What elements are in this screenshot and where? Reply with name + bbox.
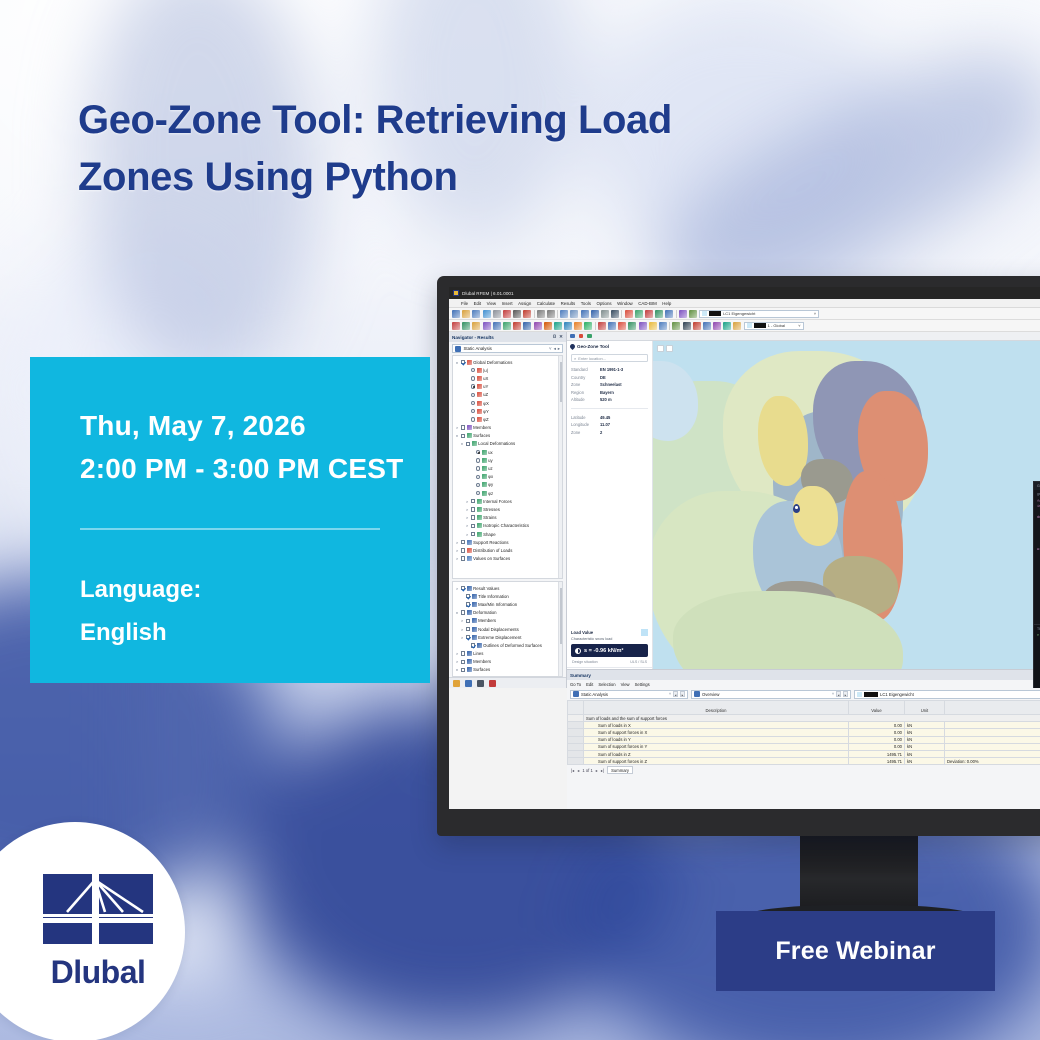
- navigator-title: Navigator - Results: [452, 335, 494, 340]
- tree-checkbox[interactable]: [461, 651, 465, 655]
- table-cell-description: Sum of support forces in Z: [584, 758, 849, 765]
- geo-field-value: Bayern: [600, 390, 614, 395]
- summary-selectors[interactable]: Static Analysis ˅ ◂▸ Overview ˅ ◂▸ LC1 E…: [567, 688, 1040, 700]
- navigator-pin-icon[interactable]: ⌷: [553, 334, 556, 340]
- toolbar-button-26[interactable]: [679, 310, 687, 318]
- tree-item-icon: [472, 602, 477, 607]
- navigator-tabs[interactable]: [449, 677, 566, 688]
- monitor: Dlubal RFEM | 6.01.0001 File Edit View I…: [437, 276, 1040, 836]
- tree-item[interactable]: Outlines of Deformed Surfaces: [453, 641, 562, 649]
- tree-item[interactable]: φy: [453, 481, 562, 489]
- toolbar-separator: [669, 322, 670, 330]
- tree-item-label: uy: [488, 458, 493, 463]
- tree-checkbox[interactable]: [471, 643, 475, 647]
- geo-field-key: Altitude: [571, 397, 597, 402]
- tree-item-icon: [477, 417, 482, 422]
- code-editor-tabs[interactable]: geo_zone_tool.py: [1034, 490, 1040, 497]
- tree-radio[interactable]: [471, 368, 475, 372]
- toolbar-button-17[interactable]: [601, 310, 609, 318]
- chevron-right-icon[interactable]: >: [455, 540, 459, 545]
- tree-item[interactable]: vDeformation: [453, 609, 562, 617]
- load-case-color-swatch-dark: [754, 323, 766, 328]
- tree-item-icon: [477, 532, 482, 537]
- tree-item-label: Trajectories: [478, 676, 500, 677]
- tree-radio[interactable]: [471, 401, 475, 405]
- tree-checkbox[interactable]: [461, 548, 465, 552]
- menu-bar[interactable]: File Edit View Insert Assign Calculate R…: [449, 299, 1040, 308]
- table-row[interactable]: Sum of loads in Y0.00kN: [568, 736, 1040, 743]
- tree-item[interactable]: >Members: [453, 424, 562, 432]
- summary-footer[interactable]: |◂ ◂ 1 of 1 ▸ ▸| Summary SNAP: [567, 765, 1040, 775]
- summary-panel: Summary Go To Edit Selection View Settin…: [567, 669, 1040, 809]
- geo-field-value: Schneelast: [600, 382, 622, 387]
- summary-menu-selection[interactable]: Selection: [598, 682, 615, 687]
- tree-item[interactable]: >Members: [453, 617, 562, 625]
- geo-result-label: Load Value: [571, 630, 593, 635]
- toolbar-button-17[interactable]: [608, 322, 616, 330]
- tree-checkbox[interactable]: [466, 635, 470, 639]
- prev-page-icon[interactable]: ◂: [577, 768, 579, 773]
- navigator-scrollbar-2[interactable]: [558, 582, 562, 676]
- toolbar-button-30[interactable]: [733, 322, 741, 330]
- tree-checkbox[interactable]: [471, 532, 475, 536]
- tree-item-label: Distribution of Loads: [473, 548, 512, 553]
- toolbar-button-27[interactable]: [703, 322, 711, 330]
- next-icon[interactable]: ▸: [558, 346, 560, 352]
- geo-limit-states: ULS / SLS: [630, 660, 647, 664]
- geo-field-row: ZoneSchneelast: [571, 382, 648, 387]
- table-col-unit: Unit: [905, 701, 945, 715]
- geo-search-placeholder: Enter location...: [578, 356, 606, 361]
- tab-results-icon[interactable]: [489, 680, 496, 687]
- summary-tab[interactable]: Summary: [607, 766, 633, 774]
- summary-menu-view[interactable]: View: [621, 682, 630, 687]
- tree-item-label: Local Deformations: [478, 441, 515, 446]
- tree-item-icon: [467, 659, 472, 664]
- navigator-analysis-select[interactable]: Static Analysis ˅◂▸: [452, 344, 563, 353]
- toolbar-button-13[interactable]: [560, 310, 568, 318]
- tree-item[interactable]: >Trajectories: [453, 674, 562, 677]
- tree-item[interactable]: φZ: [453, 415, 562, 423]
- next-icon[interactable]: ▸: [680, 691, 685, 697]
- toolbar-button-16[interactable]: [591, 310, 599, 318]
- menu-item-options[interactable]: Options: [596, 301, 611, 306]
- map-pin-icon: [569, 343, 576, 350]
- toolbar-button-22[interactable]: [645, 310, 653, 318]
- menu-item-file[interactable]: File: [461, 301, 468, 306]
- toolbar-button-20[interactable]: [639, 322, 647, 330]
- menu-item-cad-bim[interactable]: CAD-BIM: [638, 301, 657, 306]
- tree-item-label: Global Deformations: [473, 360, 512, 365]
- app-title-bar: Dlubal RFEM | 6.01.0001: [449, 287, 1040, 299]
- chevron-right-icon[interactable]: >: [455, 556, 459, 561]
- navigator-close-icon[interactable]: ✕: [559, 334, 563, 340]
- tree-item[interactable]: |u|: [453, 366, 562, 374]
- menu-item-assign[interactable]: Assign: [518, 301, 531, 306]
- chevron-right-icon[interactable]: >: [455, 586, 459, 591]
- toolbar-button-8[interactable]: [523, 310, 531, 318]
- tree-item[interactable]: Title Information: [453, 592, 562, 600]
- tree-item[interactable]: uz: [453, 464, 562, 472]
- table-row[interactable]: Sum of support forces in Z1495.71kNDevia…: [568, 758, 1040, 765]
- geo-result-header: Load Value: [567, 629, 652, 636]
- chevron-right-icon[interactable]: >: [460, 627, 464, 632]
- toolbar-button-13[interactable]: [574, 322, 582, 330]
- headline-line-1: Geo-Zone Tool: Retrieving Load: [78, 92, 878, 149]
- table-cell-unit: kN: [905, 750, 945, 757]
- zoom-out-icon[interactable]: [666, 345, 673, 352]
- chevron-down-icon[interactable]: v: [460, 441, 464, 446]
- menu-item-edit[interactable]: Edit: [474, 301, 482, 306]
- tree-item[interactable]: φY: [453, 407, 562, 415]
- chevron-down-icon[interactable]: v: [455, 667, 459, 672]
- summary-view-select[interactable]: Overview ˅ ◂▸: [691, 690, 851, 699]
- toolbar-button-15[interactable]: [581, 310, 589, 318]
- menu-item-help[interactable]: Help: [662, 301, 671, 306]
- toolbar-button-24[interactable]: [672, 322, 680, 330]
- tree-item[interactable]: vGlobal Deformations: [453, 358, 562, 366]
- geo-tool-title: Geo-Zone Tool: [577, 344, 609, 349]
- geo-field-value: 11.07: [600, 422, 610, 427]
- tree-checkbox[interactable]: [471, 515, 475, 519]
- toolbar-button-22[interactable]: [659, 322, 667, 330]
- toolbar-button-3[interactable]: [472, 322, 480, 330]
- toolbar-button-6[interactable]: [503, 322, 511, 330]
- toolbar-button-8[interactable]: [523, 322, 531, 330]
- tree-item[interactable]: vSurfaces: [453, 666, 562, 674]
- next-icon[interactable]: ▸: [843, 691, 848, 697]
- toolbar-button-29[interactable]: [723, 322, 731, 330]
- chevron-right-icon[interactable]: >: [455, 548, 459, 553]
- tree-item[interactable]: >Members: [453, 658, 562, 666]
- tree-radio[interactable]: [471, 409, 475, 413]
- tree-item-label: φY: [483, 409, 489, 414]
- tree-item[interactable]: vLocal Deformations: [453, 440, 562, 448]
- toolbar-button-21[interactable]: [649, 322, 657, 330]
- table-cell-note: Deviation: 0.00%: [945, 758, 1040, 765]
- tree-item[interactable]: >Shape: [453, 530, 562, 538]
- tree-checkbox[interactable]: [466, 619, 470, 623]
- code-editor-content[interactable]: from dlubal.api import rfem import reque…: [1034, 497, 1040, 570]
- summary-menu-go-to[interactable]: Go To: [570, 682, 581, 687]
- free-webinar-button[interactable]: Free Webinar: [716, 911, 995, 991]
- menu-item-tools[interactable]: Tools: [581, 301, 591, 306]
- tree-item-icon: [467, 667, 472, 672]
- table-row[interactable]: Sum of support forces in X0.00kN: [568, 729, 1040, 736]
- geo-zone-map[interactable]: Geo-Zone · geo_zone_tool.py — Visual Stu…: [653, 341, 1040, 688]
- tab-display-icon[interactable]: [477, 680, 484, 687]
- tree-radio[interactable]: [476, 491, 480, 495]
- tree-radio[interactable]: [476, 458, 480, 462]
- toolbar-button-9[interactable]: [534, 322, 542, 330]
- map-zoom-controls[interactable]: [657, 345, 673, 352]
- geo-search-input[interactable]: ⌕ Enter location...: [571, 354, 648, 362]
- page-title: Geo-Zone Tool: Retrieving Load Zones Usi…: [78, 92, 878, 206]
- geo-field-key: Zone: [571, 382, 597, 387]
- toolbar-button-1[interactable]: [452, 322, 460, 330]
- summary-table[interactable]: Description Value Unit Sum of loads and …: [567, 700, 1040, 765]
- table-cell-value: 0.00: [849, 736, 905, 743]
- last-page-icon[interactable]: ▸|: [601, 768, 604, 773]
- toolbar-button-12[interactable]: [564, 322, 572, 330]
- selected-location-pin: [793, 504, 800, 513]
- chevron-down-icon[interactable]: ˅: [814, 311, 816, 316]
- chevron-right-icon[interactable]: >: [455, 659, 459, 664]
- toolbar-button-10[interactable]: [537, 310, 545, 318]
- tree-item-label: uY: [483, 384, 488, 389]
- toolbar-button-11[interactable]: [547, 310, 555, 318]
- geo-field-row: Longitude11.07: [571, 422, 648, 427]
- chevron-right-icon[interactable]: >: [465, 507, 469, 512]
- toolbar-button-14[interactable]: [584, 322, 592, 330]
- tree-item-label: uz: [488, 466, 493, 471]
- terminal-header: TERMINAL: [1034, 625, 1040, 632]
- toolbar-button-5[interactable]: [493, 322, 501, 330]
- toolbar-secondary[interactable]: 1 - Global˅: [449, 320, 1040, 332]
- geo-field-value: EN 1991-1-3: [600, 367, 623, 372]
- tree-item-icon: [477, 523, 482, 528]
- tree-item[interactable]: vSurfaces: [453, 432, 562, 440]
- tree-item-label: Members: [473, 425, 491, 430]
- toolbar-button-14[interactable]: [570, 310, 578, 318]
- tree-item-label: φy: [488, 482, 493, 487]
- first-page-icon[interactable]: |◂: [571, 768, 574, 773]
- navigator-scrollbar[interactable]: [558, 356, 562, 578]
- chevron-down-icon[interactable]: ˅: [549, 346, 552, 352]
- chevron-right-icon[interactable]: >: [465, 499, 469, 504]
- toolbar-button-7[interactable]: [513, 322, 521, 330]
- toolbar-button-2[interactable]: [462, 310, 470, 318]
- tree-radio[interactable]: [471, 417, 475, 421]
- page-indicator: 1 of 1: [582, 768, 592, 773]
- viewport-toolbar[interactable]: [567, 332, 1040, 341]
- tree-radio[interactable]: [471, 393, 475, 397]
- tree-item-icon: [477, 384, 482, 389]
- toolbar-button-20[interactable]: [625, 310, 633, 318]
- tree-checkbox[interactable]: [471, 524, 475, 528]
- code-editor-title-bar: Geo-Zone · geo_zone_tool.py — Visual Stu…: [1034, 482, 1040, 490]
- tree-item[interactable]: Max/Min Information: [453, 600, 562, 608]
- tree-checkbox[interactable]: [461, 668, 465, 672]
- tree-item[interactable]: >Nodal Displacements: [453, 625, 562, 633]
- snow-icon: [575, 648, 581, 654]
- tree-radio[interactable]: [471, 384, 475, 388]
- table-cell-rowhdr: [568, 729, 584, 736]
- tree-item-label: Nodal Displacements: [478, 627, 519, 632]
- tree-item-icon: [477, 409, 482, 414]
- tree-item[interactable]: uy: [453, 456, 562, 464]
- tree-item[interactable]: uY: [453, 383, 562, 391]
- tree-radio[interactable]: [471, 376, 475, 380]
- chevron-right-icon[interactable]: >: [465, 523, 469, 528]
- tree-item[interactable]: >Isotropic Characteristics: [453, 522, 562, 530]
- table-row[interactable]: Sum of support forces in Y0.00kN: [568, 743, 1040, 750]
- tree-checkbox[interactable]: [466, 602, 470, 606]
- tree-radio[interactable]: [476, 466, 480, 470]
- toolbar-button-16[interactable]: [598, 322, 606, 330]
- tree-item[interactable]: >Internal Forces: [453, 497, 562, 505]
- toolbar-button-27[interactable]: [689, 310, 697, 318]
- tree-item[interactable]: >Distribution of Loads: [453, 546, 562, 554]
- table-row[interactable]: Sum of loads in Z1495.71kN: [568, 750, 1040, 757]
- geo-field-value: 49.45: [600, 415, 610, 420]
- monitor-stand-neck: [800, 836, 918, 914]
- tree-item[interactable]: >Strains: [453, 514, 562, 522]
- language-value: English: [80, 611, 430, 654]
- tree-checkbox[interactable]: [461, 610, 465, 614]
- toolbar-button-5[interactable]: [493, 310, 501, 318]
- geo-field-row: RegionBayern: [571, 390, 648, 395]
- geo-field-key: Zone: [571, 430, 597, 435]
- tree-item[interactable]: >Stresses: [453, 505, 562, 513]
- tree-radio[interactable]: [476, 483, 480, 487]
- tree-radio[interactable]: [476, 475, 480, 479]
- tree-checkbox[interactable]: [466, 442, 470, 446]
- tree-checkbox[interactable]: [466, 594, 470, 598]
- tree-checkbox[interactable]: [461, 660, 465, 664]
- chevron-down-icon[interactable]: ˅: [832, 692, 834, 696]
- prev-icon[interactable]: ◂: [673, 691, 678, 697]
- tree-item[interactable]: >Support Reactions: [453, 538, 562, 546]
- load-case-color-swatch: [702, 311, 707, 316]
- chevron-right-icon[interactable]: >: [465, 532, 469, 537]
- tree-checkbox[interactable]: [466, 676, 470, 677]
- tree-checkbox[interactable]: [461, 586, 465, 590]
- brand-wordmark: Dlubal: [51, 954, 146, 991]
- toolbar-button-10[interactable]: [544, 322, 552, 330]
- navigator-tree[interactable]: vGlobal Deformations|u|uXuYuZφXφYφZ>Memb…: [452, 355, 563, 579]
- menu-item-insert[interactable]: Insert: [502, 301, 513, 306]
- tree-item-icon: [477, 401, 482, 406]
- tree-item-label: Lines: [473, 651, 483, 656]
- toolbar-button-24[interactable]: [665, 310, 673, 318]
- toolbar-button-25[interactable]: [683, 322, 691, 330]
- tree-item[interactable]: φX: [453, 399, 562, 407]
- chevron-down-icon[interactable]: ˅: [798, 323, 800, 328]
- terminal-panel: TERMINAL > python geo_zone_tool.py Zone:…: [1034, 624, 1040, 688]
- tree-item[interactable]: ux: [453, 448, 562, 456]
- tree-item[interactable]: φx: [453, 473, 562, 481]
- geo-result-color-swatch: [641, 629, 648, 636]
- tree-checkbox[interactable]: [471, 507, 475, 511]
- summary-menu-bar[interactable]: Go To Edit Selection View Settings: [567, 680, 1040, 688]
- prev-icon[interactable]: ◂: [554, 346, 556, 352]
- zoom-in-icon[interactable]: [657, 345, 664, 352]
- tree-item[interactable]: >Extreme Displacement: [453, 633, 562, 641]
- tree-item[interactable]: φz: [453, 489, 562, 497]
- chevron-right-icon[interactable]: >: [455, 425, 459, 430]
- tree-item[interactable]: >Values on Surfaces: [453, 555, 562, 563]
- toolbar-button-21[interactable]: [635, 310, 643, 318]
- load-case-color-swatch: [747, 323, 752, 328]
- tree-item-label: Surfaces: [473, 433, 490, 438]
- chevron-down-icon[interactable]: v: [455, 610, 459, 615]
- tree-checkbox[interactable]: [461, 434, 465, 438]
- toolbar-button-18[interactable]: [618, 322, 626, 330]
- analysis-icon: [455, 346, 461, 352]
- tree-item-label: φz: [488, 491, 493, 496]
- headline-line-2: Zones Using Python: [78, 149, 878, 206]
- menu-item-results[interactable]: Results: [561, 301, 576, 306]
- tree-checkbox[interactable]: [461, 425, 465, 429]
- next-page-icon[interactable]: ▸: [596, 768, 598, 773]
- chevron-down-icon[interactable]: v: [455, 360, 459, 365]
- toolbar-button-26[interactable]: [693, 322, 701, 330]
- menu-item-window[interactable]: Window: [617, 301, 633, 306]
- chevron-down-icon[interactable]: ˅: [669, 692, 671, 696]
- chevron-right-icon[interactable]: >: [460, 635, 464, 640]
- toolbar-load-case-select[interactable]: LC1 Eigengewicht˅: [699, 310, 819, 318]
- table-group-label: Sum of loads and the sum of support forc…: [584, 715, 1040, 722]
- toolbar-button-19[interactable]: [628, 322, 636, 330]
- toolbar-button-11[interactable]: [554, 322, 562, 330]
- summary-menu-settings[interactable]: Settings: [635, 682, 650, 687]
- prev-icon[interactable]: ◂: [836, 691, 841, 697]
- tree-item[interactable]: >Result Values: [453, 584, 562, 592]
- summary-menu-edit[interactable]: Edit: [586, 682, 593, 687]
- case-color-swatch: [857, 692, 862, 697]
- tree-checkbox[interactable]: [471, 499, 475, 503]
- toolbar-button-3[interactable]: [472, 310, 480, 318]
- tree-item-label: Internal Forces: [483, 499, 512, 504]
- toolbar-button-4[interactable]: [483, 310, 491, 318]
- tree-item[interactable]: >Lines: [453, 650, 562, 658]
- geo-field-row: CountryDE: [571, 375, 648, 380]
- toolbar-button-28[interactable]: [713, 322, 721, 330]
- chevron-right-icon[interactable]: >: [455, 651, 459, 656]
- toolbar-button-18[interactable]: [611, 310, 619, 318]
- toolbar-button-23[interactable]: [655, 310, 663, 318]
- summary-case-select[interactable]: LC1 Eigengewicht ˅: [854, 690, 1040, 699]
- chevron-right-icon[interactable]: >: [460, 676, 464, 677]
- chevron-right-icon[interactable]: >: [460, 618, 464, 623]
- table-cell-note: [945, 722, 1040, 729]
- chevron-right-icon[interactable]: >: [465, 515, 469, 520]
- chevron-down-icon[interactable]: v: [455, 433, 459, 438]
- tree-item-icon: [467, 540, 472, 545]
- toolbar-button-6[interactable]: [503, 310, 511, 318]
- toolbar-button-7[interactable]: [513, 310, 521, 318]
- table-cell-unit: kN: [905, 736, 945, 743]
- table-row[interactable]: Sum of loads in X0.00kN: [568, 722, 1040, 729]
- navigator-tree-display[interactable]: >Result ValuesTitle InformationMax/Min I…: [452, 581, 563, 677]
- menu-item-calculate[interactable]: Calculate: [537, 301, 555, 306]
- tab-model-icon[interactable]: [453, 680, 460, 687]
- table-header-row: Description Value Unit: [568, 701, 1040, 715]
- tree-checkbox[interactable]: [461, 360, 465, 364]
- tab-views-icon[interactable]: [465, 680, 472, 687]
- menu-item-view[interactable]: View: [487, 301, 496, 306]
- tree-item[interactable]: uZ: [453, 391, 562, 399]
- toolbar-button-4[interactable]: [483, 322, 491, 330]
- table-cell-value: 1495.71: [849, 758, 905, 765]
- toolbar-button-2[interactable]: [462, 322, 470, 330]
- toolbar-button-1[interactable]: [452, 310, 460, 318]
- tree-item-label: |u|: [483, 368, 488, 373]
- table-cell-value: 1495.71: [849, 750, 905, 757]
- tree-checkbox[interactable]: [466, 627, 470, 631]
- tree-checkbox[interactable]: [461, 540, 465, 544]
- tree-item-label: Stresses: [483, 507, 500, 512]
- summary-analysis-select[interactable]: Static Analysis ˅ ◂▸: [570, 690, 688, 699]
- navigator-header: Navigator - Results ⌷ ✕: [449, 332, 566, 342]
- tree-radio[interactable]: [476, 450, 480, 454]
- tree-item[interactable]: uX: [453, 374, 562, 382]
- toolbar-load-case-select[interactable]: 1 - Global˅: [744, 322, 804, 330]
- toolbar-primary[interactable]: LC1 Eigengewicht˅: [449, 308, 1040, 320]
- toolbar-load-case-value: LC1 Eigengewicht: [723, 311, 755, 316]
- tree-checkbox[interactable]: [461, 556, 465, 560]
